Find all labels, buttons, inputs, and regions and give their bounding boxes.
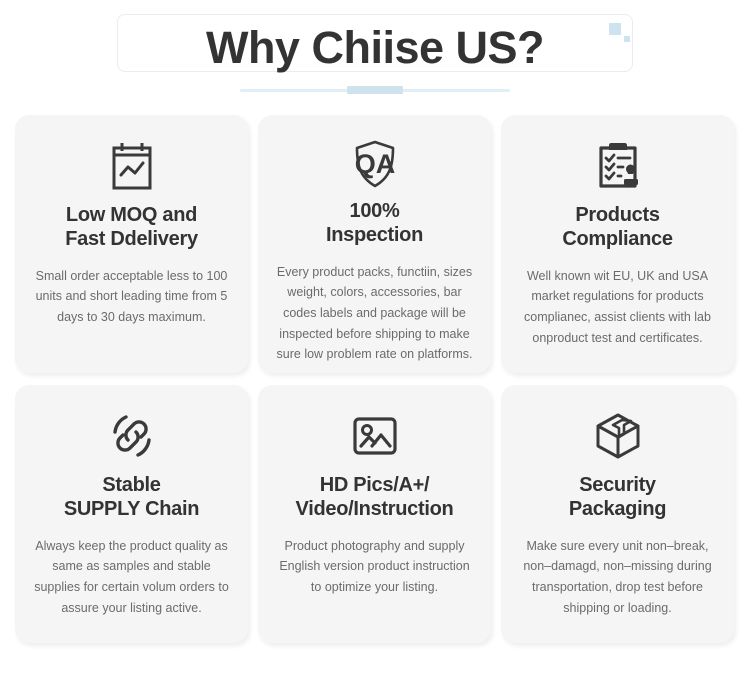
- package-box-icon: [592, 407, 644, 465]
- chain-link-icon: [106, 407, 158, 465]
- card-body: Make sure every unit non–break, non–dama…: [517, 536, 718, 619]
- page-title: Why Chiise US?: [0, 25, 750, 70]
- card-title: Security Packaging: [569, 473, 666, 522]
- page-header: Why Chiise US?: [0, 0, 750, 110]
- feature-card-compliance[interactable]: Products Compliance Well known wit EU, U…: [501, 115, 734, 373]
- feature-card-inspection[interactable]: QA 100% Inspection Every product packs, …: [258, 115, 491, 373]
- qa-shield-icon: QA: [348, 137, 402, 191]
- feature-card-grid: Low MOQ and Fast Ddelivery Small order a…: [15, 115, 735, 643]
- flipchart-growth-icon: [109, 137, 155, 195]
- card-title: 100% Inspection: [326, 199, 423, 248]
- card-title: Low MOQ and Fast Ddelivery: [65, 203, 198, 252]
- title-accent-line-center: [347, 86, 403, 94]
- card-body: Always keep the product quality as same …: [31, 536, 232, 619]
- card-body: Well known wit EU, UK and USA market reg…: [517, 266, 718, 349]
- image-photo-icon: [350, 407, 400, 465]
- card-body: Product photography and supply English v…: [274, 536, 475, 598]
- svg-text:QA: QA: [354, 149, 395, 179]
- feature-card-low-moq[interactable]: Low MOQ and Fast Ddelivery Small order a…: [15, 115, 248, 373]
- card-title: Products Compliance: [562, 203, 672, 252]
- card-body: Every product packs, functiin, sizes wei…: [274, 262, 475, 365]
- clipboard-checklist-stamp-icon: [593, 137, 643, 195]
- feature-card-supply-chain[interactable]: Stable SUPPLY Chain Always keep the prod…: [15, 385, 248, 643]
- feature-card-hd-pics[interactable]: HD Pics/A+/ Video/Instruction Product ph…: [258, 385, 491, 643]
- feature-card-packaging[interactable]: Security Packaging Make sure every unit …: [501, 385, 734, 643]
- card-title: HD Pics/A+/ Video/Instruction: [296, 473, 454, 522]
- card-body: Small order acceptable less to 100 units…: [31, 266, 232, 328]
- card-title: Stable SUPPLY Chain: [64, 473, 199, 522]
